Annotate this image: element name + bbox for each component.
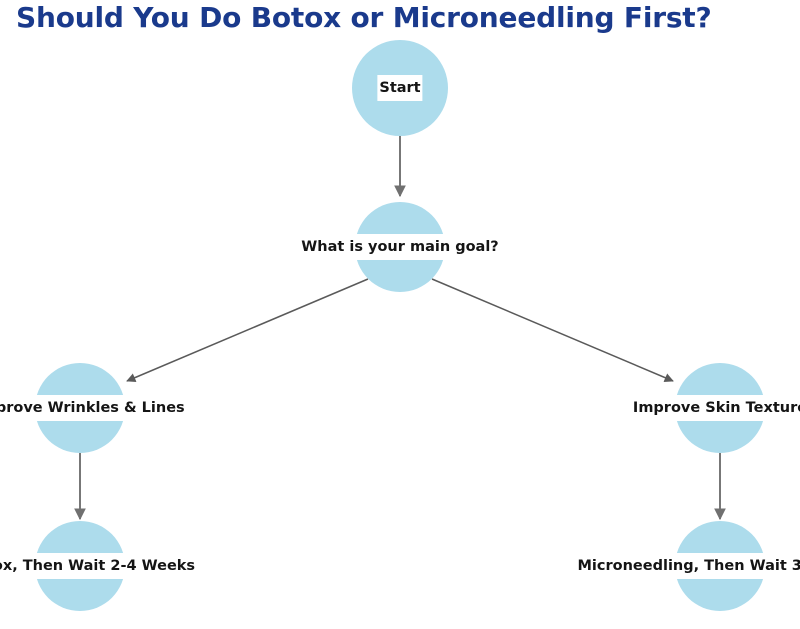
node-botox-then-wait-label: Botox, Then Wait 2-4 Weeks (0, 553, 197, 579)
node-improve-skin-texture-label: Improve Skin Texture (631, 395, 800, 421)
page-title: Should You Do Botox or Microneedling Fir… (16, 0, 796, 36)
edge-goal-to-wrinkles (127, 279, 368, 381)
node-start-label: Start (377, 75, 422, 101)
node-botox-then-wait[interactable]: Botox, Then Wait 2-4 Weeks (35, 521, 125, 611)
edge-goal-to-texture (432, 279, 673, 381)
node-goal[interactable]: What is your main goal? (355, 202, 445, 292)
node-goal-label: What is your main goal? (299, 234, 500, 260)
node-improve-wrinkles-and-lines-label: Improve Wrinkles & Lines (0, 395, 187, 421)
node-microneedling-then-wait[interactable]: Microneedling, Then Wait 3-5 Days (675, 521, 765, 611)
node-improve-wrinkles-and-lines[interactable]: Improve Wrinkles & Lines (35, 363, 125, 453)
node-microneedling-then-wait-label: Microneedling, Then Wait 3-5 Days (575, 553, 800, 579)
node-start[interactable]: Start (352, 40, 448, 136)
node-improve-skin-texture[interactable]: Improve Skin Texture (675, 363, 765, 453)
